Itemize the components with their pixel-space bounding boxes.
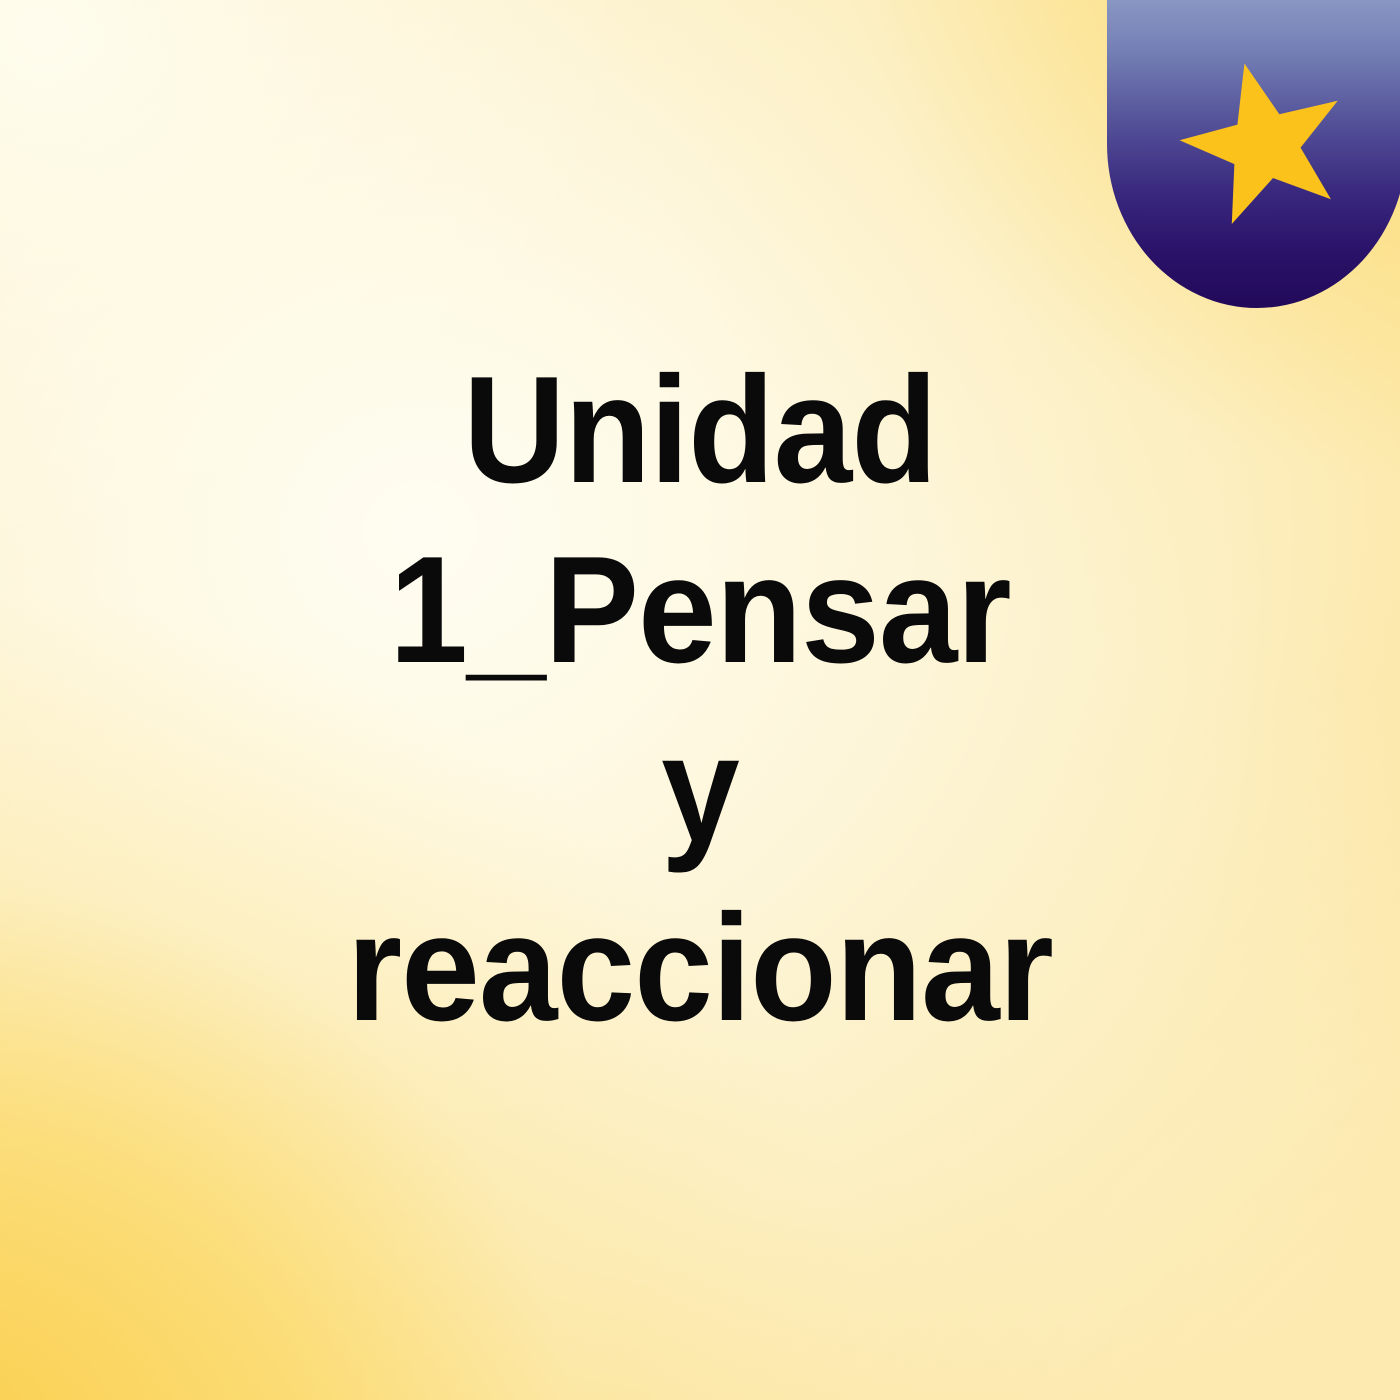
slide-title: Unidad 1_Pensar y reaccionar (347, 341, 1054, 1058)
title-container: Unidad 1_Pensar y reaccionar (0, 0, 1400, 1400)
slide-canvas: Unidad 1_Pensar y reaccionar (0, 0, 1400, 1400)
